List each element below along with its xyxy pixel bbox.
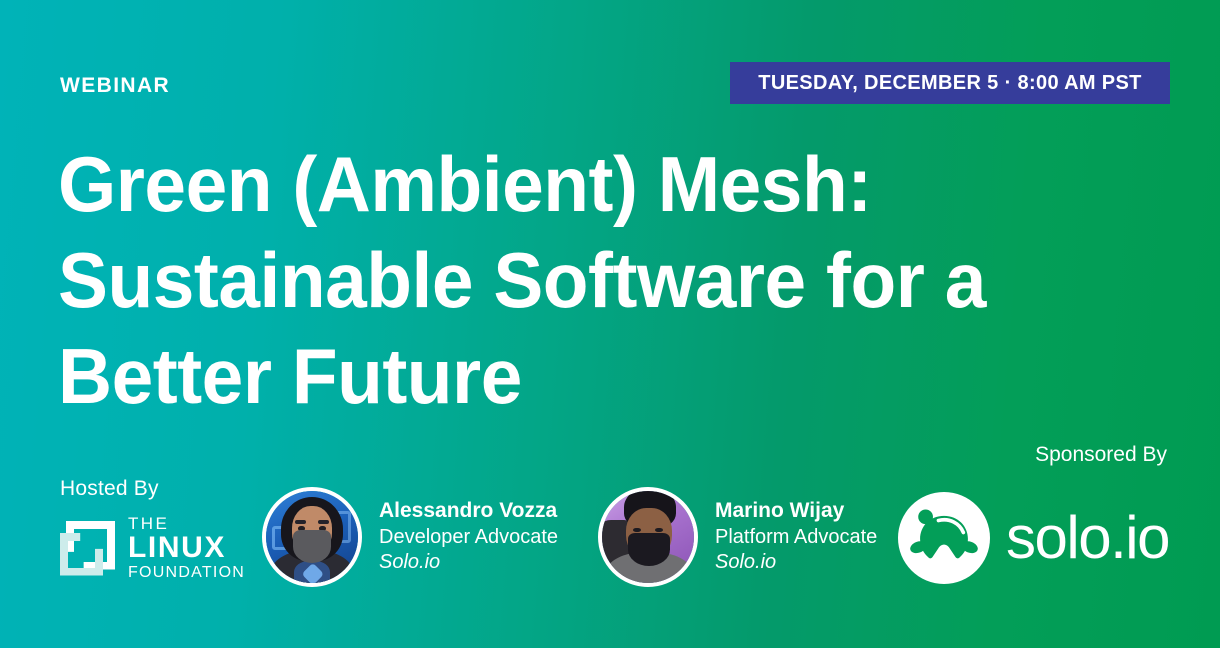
speaker-card: Marino Wijay Platform Advocate Solo.io (598, 487, 877, 587)
hosted-by-block: Hosted By THE LINUX FOUNDATION (60, 477, 245, 581)
solo-io-wordmark: solo.io (1006, 508, 1169, 568)
speaker-role: Developer Advocate (379, 525, 558, 550)
linux-foundation-wordmark: THE LINUX FOUNDATION (128, 515, 245, 581)
eyebrow-label: WEBINAR (60, 74, 170, 98)
linux-foundation-logo: THE LINUX FOUNDATION (60, 515, 245, 581)
avatar (598, 487, 698, 587)
speaker-details: Marino Wijay Platform Advocate Solo.io (715, 498, 877, 575)
webinar-promo-banner: { "eyebrow": "WEBINAR", "date_badge": { … (0, 0, 1220, 648)
speaker-card: Alessandro Vozza Developer Advocate Solo… (262, 487, 558, 587)
lf-linux-text: LINUX (128, 533, 245, 563)
speaker-org: Solo.io (715, 550, 877, 575)
speaker-role: Platform Advocate (715, 525, 877, 550)
linux-foundation-mark-icon (60, 521, 115, 576)
speaker-name: Marino Wijay (715, 498, 877, 525)
page-title-line-3: Better Future (58, 328, 1076, 424)
solo-io-mark-icon (898, 492, 990, 584)
speaker-name: Alessandro Vozza (379, 498, 558, 525)
page-title-line-2: Sustainable Software for a (58, 232, 1076, 328)
page-title-line-1: Green (Ambient) Mesh: (58, 136, 1076, 232)
speaker-org: Solo.io (379, 550, 558, 575)
lf-the-text: THE (128, 515, 245, 532)
lf-foundation-text: FOUNDATION (128, 565, 245, 581)
date-badge: TUESDAY, DECEMBER 5 · 8:00 AM PST (730, 62, 1170, 104)
hosted-by-label: Hosted By (60, 477, 245, 501)
date-badge-text: TUESDAY, DECEMBER 5 · 8:00 AM PST (758, 72, 1141, 95)
sponsored-by-label: Sponsored By (1035, 443, 1167, 467)
avatar (262, 487, 362, 587)
page-title: Green (Ambient) Mesh: Sustainable Softwa… (58, 136, 1076, 424)
solo-io-logo: solo.io (898, 492, 1169, 584)
speaker-details: Alessandro Vozza Developer Advocate Solo… (379, 498, 558, 575)
